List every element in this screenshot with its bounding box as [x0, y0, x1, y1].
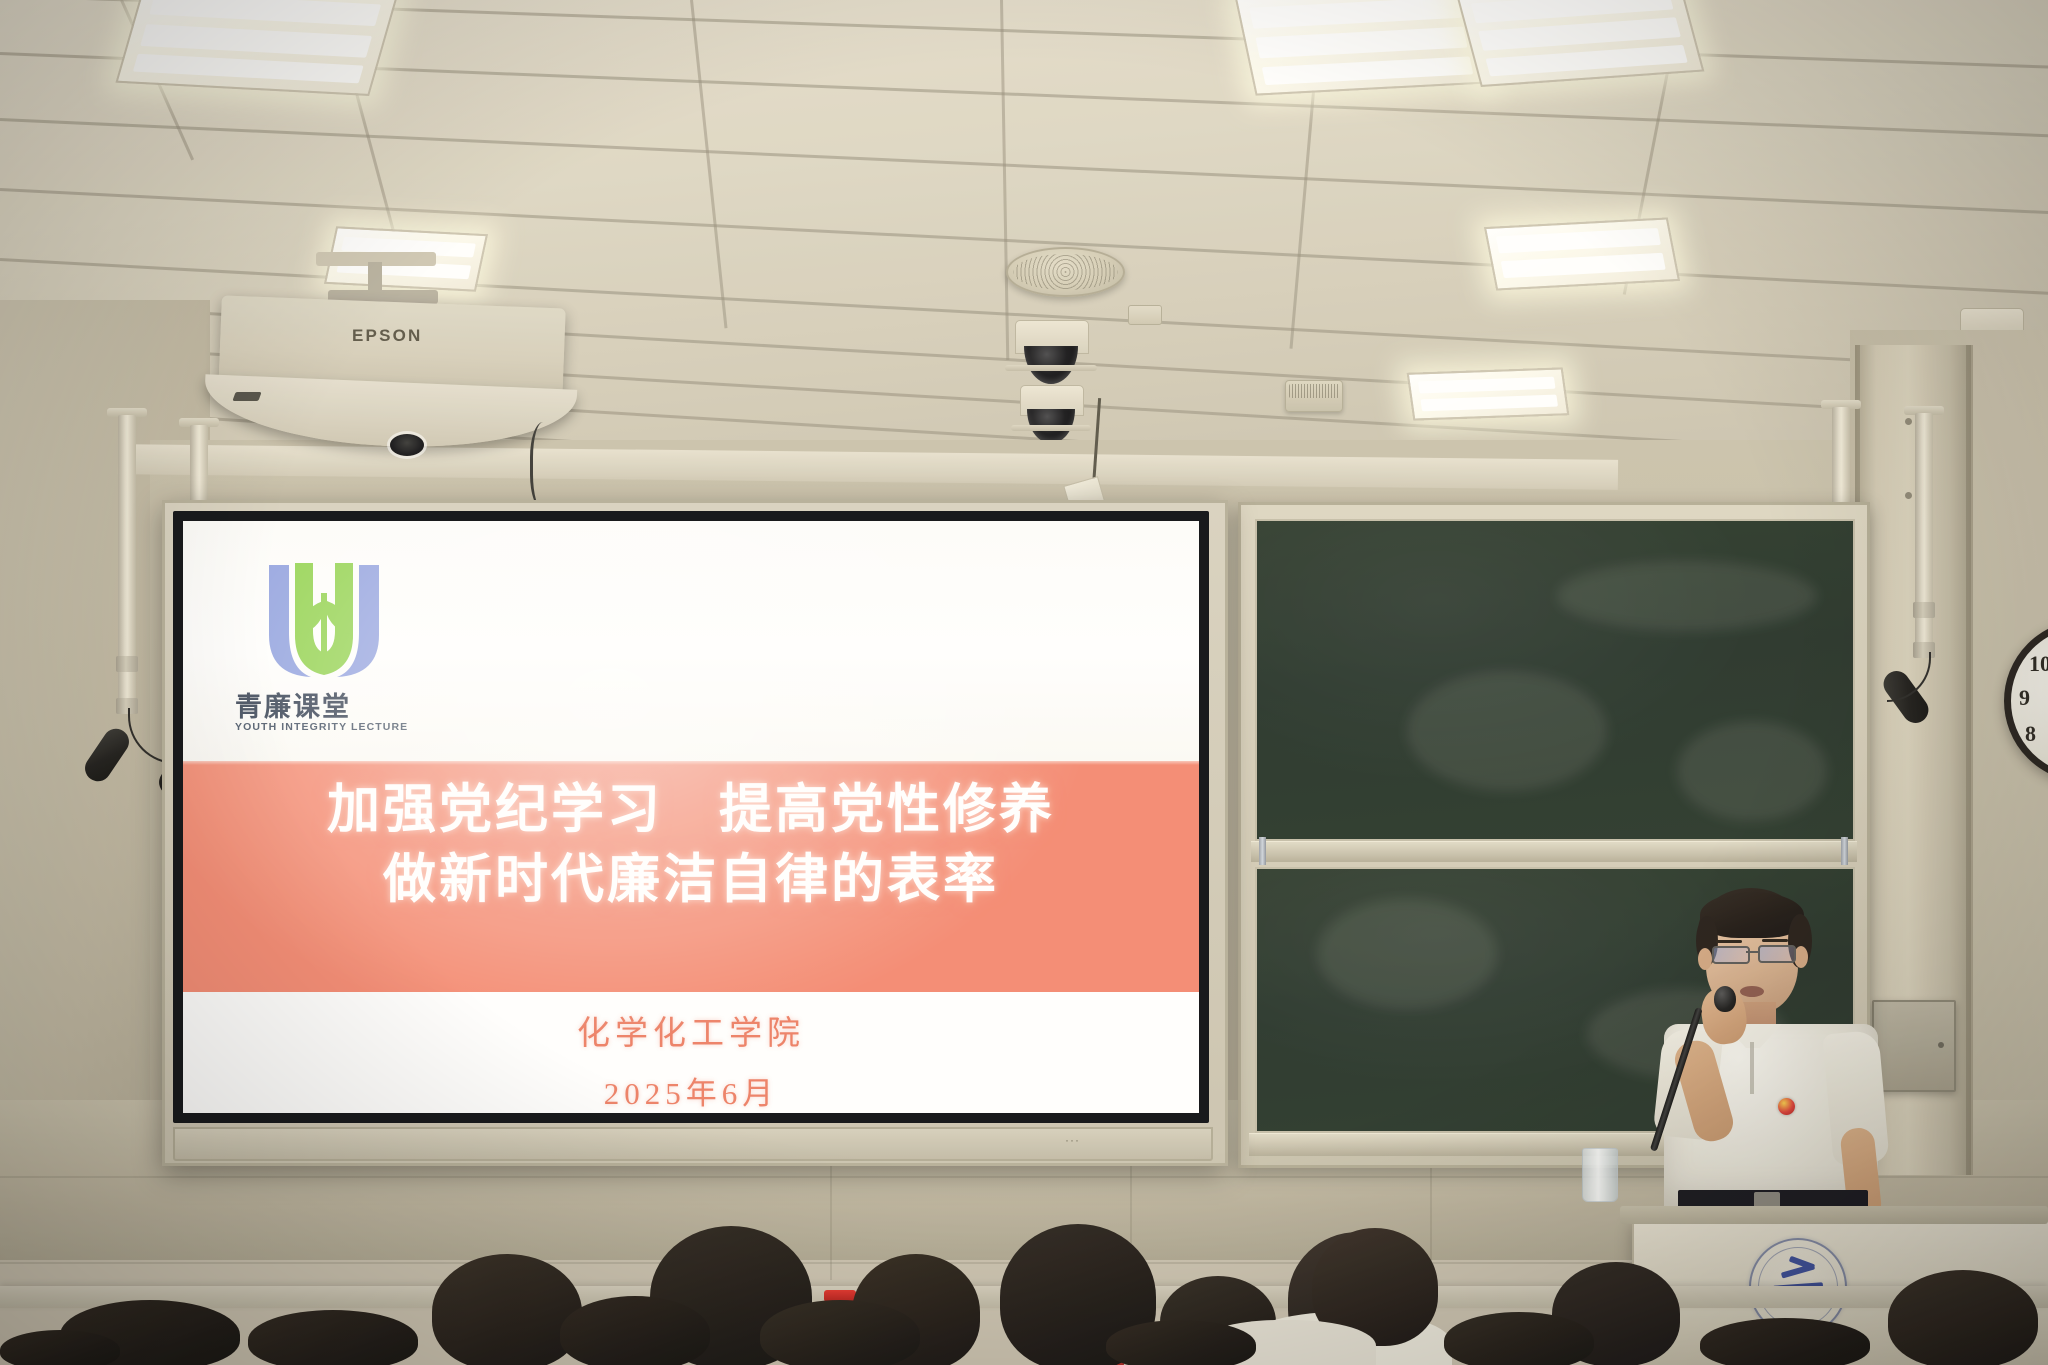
screen-brand-label: ··· [1065, 1133, 1080, 1147]
audience-head [432, 1254, 582, 1365]
audience-head [0, 1330, 120, 1365]
slide-footer-block: 化学化工学院 2025年6月 [183, 1006, 1199, 1113]
audience-head [248, 1310, 418, 1365]
ceiling-light-panel [115, 0, 398, 96]
clock-numeral: 10 [2029, 651, 2048, 677]
presenter-eyeglasses [1712, 946, 1750, 964]
audience-head [1444, 1312, 1594, 1365]
audience-head [560, 1296, 710, 1365]
presenter-eyeglasses [1758, 945, 1796, 963]
ceiling-light-panel [1484, 217, 1680, 290]
youth-integrity-lecture-logo: 青廉课堂 YOUTH INTEGRITY LECTURE [231, 557, 431, 747]
audience-head [1106, 1320, 1256, 1365]
dome-camera-icon [1020, 385, 1082, 441]
audience-head [760, 1300, 920, 1365]
screen-lower-bezel [173, 1127, 1213, 1161]
handheld-microphone-icon [1672, 986, 1752, 1166]
dome-camera-icon [1015, 320, 1087, 382]
audience-head [1888, 1270, 2038, 1365]
audience-head [1700, 1318, 1870, 1365]
projector-lens-icon [390, 434, 424, 456]
projection-screen: 青廉课堂 YOUTH INTEGRITY LECTURE 加强党纪学习 提高党性… [162, 500, 1228, 1166]
ceiling-speaker-icon [1006, 247, 1125, 297]
presenter [1650, 890, 1910, 1170]
chalkboard-upper-panel [1255, 519, 1855, 841]
water-glass [1582, 1148, 1618, 1202]
chalk-rail [1251, 841, 1857, 862]
slide-title-block: 加强党纪学习 提高党性修养 做新时代廉洁自律的表率 [183, 779, 1199, 912]
presentation-slide: 青廉课堂 YOUTH INTEGRITY LECTURE 加强党纪学习 提高党性… [183, 521, 1199, 1113]
projector-brand-label: EPSON [352, 326, 423, 346]
ceiling-light-panel [1235, 0, 1490, 96]
podium-top-surface [1620, 1206, 2048, 1224]
slide-title-line-2: 做新时代廉洁自律的表率 [183, 849, 1199, 912]
smoke-detector-icon [1285, 380, 1343, 412]
lecture-hall-scene: 10 9 8 EPSON [0, 0, 2048, 1365]
logo-chinese-name: 青廉课堂 [235, 685, 351, 724]
logo-english-name: YOUTH INTEGRITY LECTURE [235, 721, 408, 733]
ceiling-light-panel [1456, 0, 1705, 87]
ceiling-light-panel [1407, 367, 1570, 420]
slide-title-line-1: 加强党纪学习 提高党性修养 [183, 779, 1199, 842]
slide-date: 2025年6月 [183, 1068, 1199, 1113]
clock-numeral: 9 [2019, 685, 2030, 711]
u-leaf-emblem-icon [249, 557, 399, 685]
presenter-lapel-pin [1778, 1098, 1795, 1115]
slide-organization: 化学化工学院 [183, 1006, 1199, 1054]
ceiling-mount-bracket [1128, 305, 1162, 325]
clock-numeral: 8 [2025, 721, 2036, 747]
ceiling-projector: EPSON [220, 330, 580, 460]
